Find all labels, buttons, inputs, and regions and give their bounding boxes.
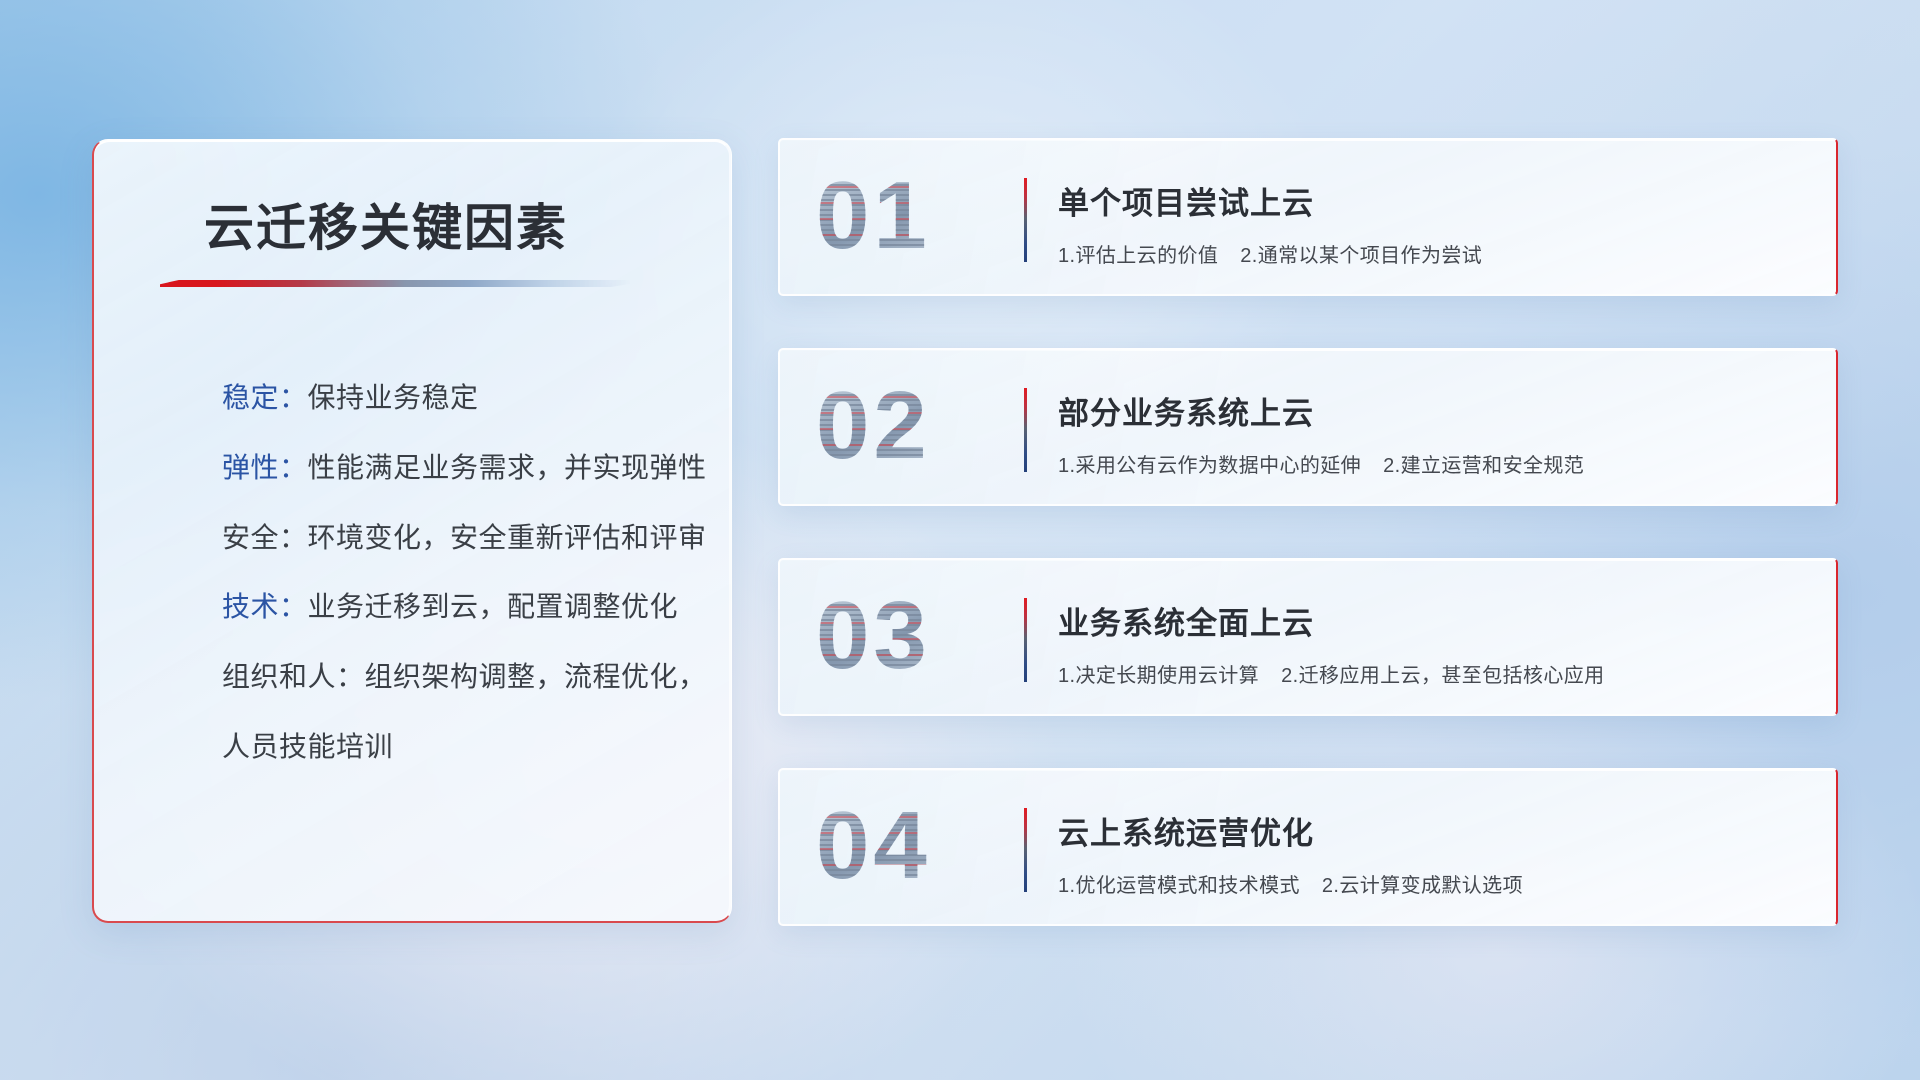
card-divider-bar bbox=[1024, 388, 1027, 472]
list-item-text: 业务迁移到云，配置调整优化 bbox=[308, 591, 679, 622]
card-desc-point-1: 1.决定长期使用云计算 bbox=[1058, 665, 1259, 687]
stage-card[interactable]: 04 04 云上系统运营优化 1.优化运营模式和技术模式2.云计算变成默认选项 bbox=[778, 768, 1838, 926]
card-desc-point-1: 1.评估上云的价值 bbox=[1058, 245, 1218, 267]
card-body: 业务系统全面上云 1.决定长期使用云计算2.迁移应用上云，甚至包括核心应用 bbox=[1058, 598, 1808, 688]
list-item: 弹性：性能满足业务需求，并实现弹性 bbox=[222, 448, 695, 488]
card-body: 云上系统运营优化 1.优化运营模式和技术模式2.云计算变成默认选项 bbox=[1058, 808, 1808, 898]
card-description: 1.优化运营模式和技术模式2.云计算变成默认选项 bbox=[1058, 869, 1808, 898]
list-item: 安全：环境变化，安全重新评估和评审 bbox=[222, 518, 695, 558]
card-desc-point-2: 2.迁移应用上云，甚至包括核心应用 bbox=[1281, 665, 1604, 687]
stage-card[interactable]: 01 01 单个项目尝试上云 1.评估上云的价值2.通常以某个项目作为尝试 bbox=[778, 138, 1838, 296]
list-item-label: 组织和人： bbox=[222, 661, 365, 692]
title-underline-gradient bbox=[160, 280, 630, 287]
list-item-label: 技术： bbox=[222, 591, 308, 622]
page-title: 云迁移关键因素 bbox=[204, 188, 568, 260]
key-factors-panel: 云迁移关键因素 稳定：保持业务稳定 弹性：性能满足业务需求，并实现弹性 安全：环… bbox=[92, 139, 732, 923]
key-factors-list: 稳定：保持业务稳定 弹性：性能满足业务需求，并实现弹性 安全：环境变化，安全重新… bbox=[222, 378, 695, 797]
list-item: 组织和人：组织架构调整，流程优化， bbox=[222, 657, 695, 697]
stage-card[interactable]: 02 02 部分业务系统上云 1.采用公有云作为数据中心的延伸2.建立运营和安全… bbox=[778, 348, 1838, 506]
card-title: 单个项目尝试上云 bbox=[1058, 178, 1808, 223]
card-divider-bar bbox=[1024, 178, 1027, 262]
stage-number: 01 bbox=[816, 154, 931, 279]
list-item-label: 弹性： bbox=[222, 452, 308, 483]
card-desc-point-1: 1.优化运营模式和技术模式 bbox=[1058, 875, 1300, 897]
card-body: 部分业务系统上云 1.采用公有云作为数据中心的延伸2.建立运营和安全规范 bbox=[1058, 388, 1808, 478]
list-item-label: 安全： bbox=[222, 522, 308, 553]
list-item-text: 性能满足业务需求，并实现弹性 bbox=[308, 452, 707, 483]
stage-card[interactable]: 03 03 业务系统全面上云 1.决定长期使用云计算2.迁移应用上云，甚至包括核… bbox=[778, 558, 1838, 716]
list-item: 技术：业务迁移到云，配置调整优化 bbox=[222, 587, 695, 627]
list-item: 稳定：保持业务稳定 bbox=[222, 378, 695, 418]
list-item: 人员技能培训 bbox=[222, 727, 695, 767]
card-body: 单个项目尝试上云 1.评估上云的价值2.通常以某个项目作为尝试 bbox=[1058, 178, 1808, 268]
list-item-text: 保持业务稳定 bbox=[308, 382, 479, 413]
card-desc-point-2: 2.云计算变成默认选项 bbox=[1322, 875, 1523, 897]
card-description: 1.采用公有云作为数据中心的延伸2.建立运营和安全规范 bbox=[1058, 449, 1808, 478]
card-title: 云上系统运营优化 bbox=[1058, 808, 1808, 853]
card-desc-point-1: 1.采用公有云作为数据中心的延伸 bbox=[1058, 455, 1361, 477]
card-description: 1.评估上云的价值2.通常以某个项目作为尝试 bbox=[1058, 239, 1808, 268]
card-desc-point-2: 2.建立运营和安全规范 bbox=[1383, 455, 1584, 477]
list-item-text: 环境变化，安全重新评估和评审 bbox=[308, 522, 707, 553]
card-title: 部分业务系统上云 bbox=[1058, 388, 1808, 433]
stage-number: 02 bbox=[816, 364, 931, 489]
migration-stage-cards: 01 01 单个项目尝试上云 1.评估上云的价值2.通常以某个项目作为尝试 02… bbox=[778, 138, 1838, 978]
card-divider-bar bbox=[1024, 598, 1027, 682]
card-title: 业务系统全面上云 bbox=[1058, 598, 1808, 643]
stage-number: 04 bbox=[816, 784, 931, 909]
card-description: 1.决定长期使用云计算2.迁移应用上云，甚至包括核心应用 bbox=[1058, 659, 1808, 688]
list-item-text: 组织架构调整，流程优化， bbox=[365, 661, 707, 692]
list-item-label: 稳定： bbox=[222, 382, 308, 413]
card-divider-bar bbox=[1024, 808, 1027, 892]
list-item-text: 人员技能培训 bbox=[222, 731, 393, 762]
stage-number: 03 bbox=[816, 574, 931, 699]
card-desc-point-2: 2.通常以某个项目作为尝试 bbox=[1240, 245, 1482, 267]
